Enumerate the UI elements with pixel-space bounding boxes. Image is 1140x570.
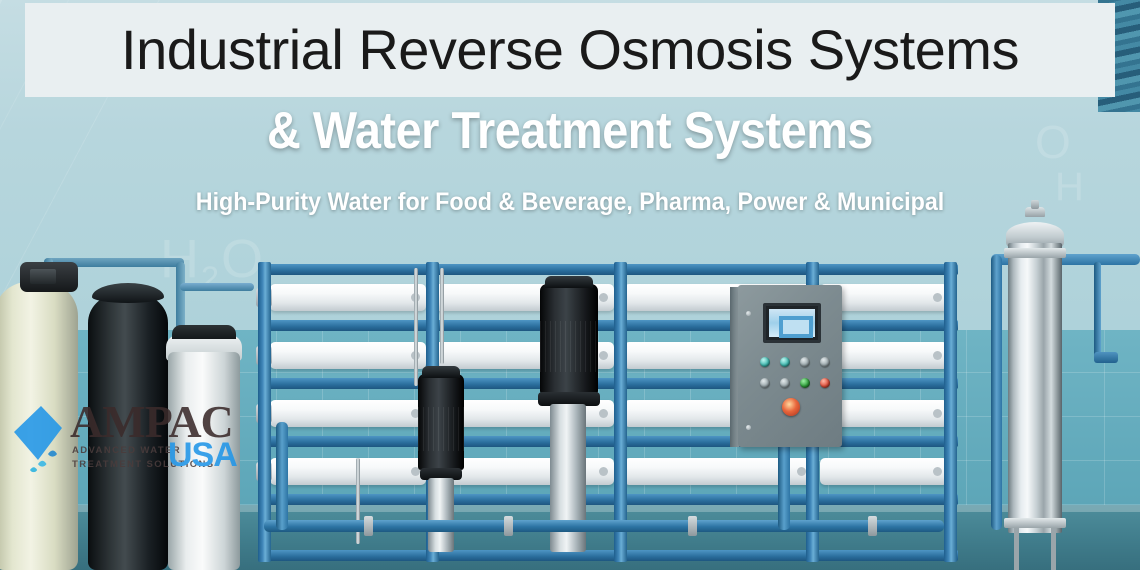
pipe-flange (868, 516, 877, 536)
hmi-bezel (763, 303, 821, 343)
emergency-stop-button[interactable] (782, 398, 800, 416)
pump-body (428, 478, 454, 552)
high-pressure-pump-motor (418, 374, 464, 470)
membrane-vessel (270, 400, 426, 427)
filter-clamp-band (1004, 248, 1066, 258)
frame-rail-3 (258, 436, 958, 447)
membrane-vessel (270, 342, 426, 369)
frame-rail-4 (258, 494, 958, 505)
control-valve-head (20, 262, 78, 292)
stainless-cartridge-filter (1008, 243, 1062, 533)
carbon-tank-cap (92, 283, 164, 303)
panel-screw (746, 311, 751, 316)
support-rod (440, 268, 444, 364)
filter-bypass-pipe (991, 255, 1002, 530)
pipe-flange (504, 516, 513, 536)
frame-upright (614, 262, 627, 562)
frame-rail-top (258, 264, 958, 275)
control-panel[interactable] (738, 285, 842, 447)
frame-upright (944, 262, 957, 562)
indicator-lamp[interactable] (760, 378, 770, 388)
manifold-riser (276, 422, 288, 530)
page-title: Industrial Reverse Osmosis Systems (121, 22, 1019, 78)
manifold-riser (778, 442, 790, 530)
filter-clamp-band (1004, 518, 1066, 528)
indicator-lamp[interactable] (780, 378, 790, 388)
subheadline: High-Purity Water for Food & Beverage, P… (40, 188, 1100, 217)
frame-rail-bottom (258, 550, 958, 561)
indicator-lamp[interactable] (820, 378, 830, 388)
panel-screw (746, 425, 751, 430)
high-pressure-pump-motor (540, 284, 598, 394)
frame-upright (258, 262, 271, 562)
filter-support-legs (1014, 528, 1056, 570)
wall-spigot-outlet (1094, 352, 1118, 363)
hero-banner: H2O O H (0, 0, 1140, 570)
indicator-lamp[interactable] (800, 357, 810, 367)
indicator-lamp[interactable] (760, 357, 770, 367)
support-rod (414, 268, 418, 386)
wall-spigot-pipe (1094, 262, 1101, 360)
membrane-vessel (270, 284, 426, 311)
hmi-screen[interactable] (769, 309, 815, 337)
indicator-lamp[interactable] (820, 357, 830, 367)
indicator-lamp[interactable] (780, 357, 790, 367)
brine-tank-pipe (180, 283, 254, 291)
indicator-lamp[interactable] (800, 378, 810, 388)
logo-country-text: USA (168, 438, 237, 472)
membrane-vessel (270, 458, 426, 485)
ro-skid (258, 262, 958, 570)
frame-rail-1 (258, 320, 958, 331)
ampac-logo[interactable]: AMPAC ADVANCED WATER TREATMENT SOLUTIONS… (8, 398, 258, 484)
frame-rail-2 (258, 378, 958, 389)
pipe-flange (364, 516, 373, 536)
membrane-vessel (820, 458, 948, 485)
headline-secondary: & Water Treatment Systems (57, 100, 1083, 162)
headline-banner-box: Industrial Reverse Osmosis Systems (25, 3, 1115, 97)
pipe-flange (688, 516, 697, 536)
water-drop-icon (8, 398, 70, 476)
